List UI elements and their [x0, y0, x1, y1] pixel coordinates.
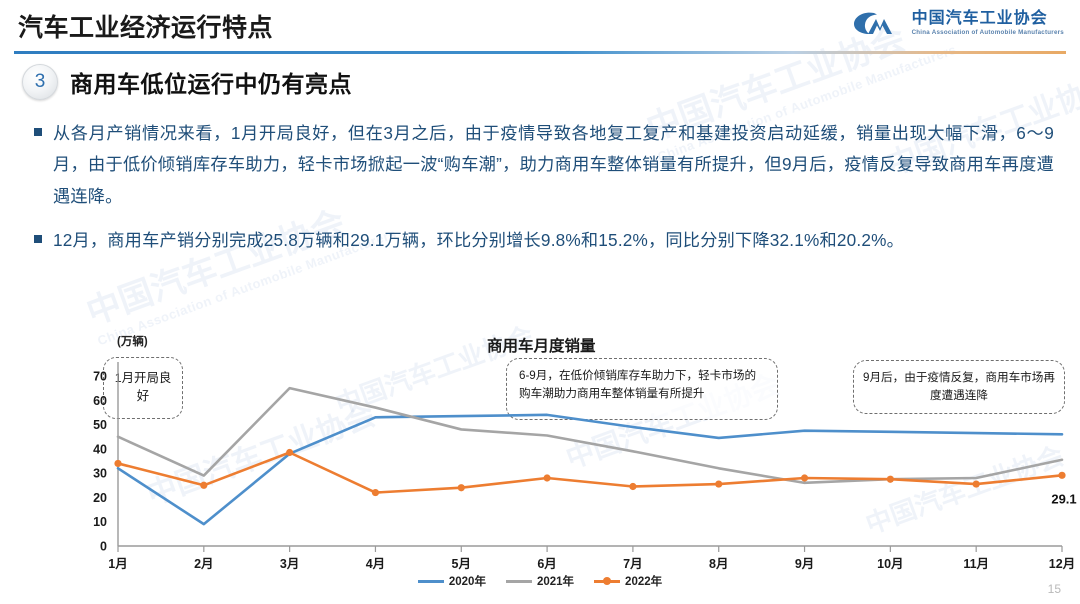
section-number-badge: 3: [22, 64, 58, 100]
slide-header: 汽车工业经济运行特点 中国汽车工业协会 China Association of…: [0, 0, 1080, 58]
brand-name-cn: 中国汽车工业协会: [912, 10, 1064, 28]
section-title: 商用车低位运行中仍有亮点: [70, 65, 352, 99]
bullet-text: 从各月产销情况来看，1月开局良好，但在3月之后，由于疫情导致各地复工复产和基建投…: [53, 118, 1054, 212]
legend-item-2021: 2021年: [506, 573, 574, 589]
bullet-list: 从各月产销情况来看，1月开局良好，但在3月之后，由于疫情导致各地复工复产和基建投…: [34, 118, 1054, 269]
legend-label-2020: 2020年: [449, 573, 486, 589]
page-number: 15: [1048, 582, 1061, 596]
legend-item-2020: 2020年: [418, 573, 486, 589]
svg-text:4月: 4月: [366, 557, 385, 571]
legend-label-2022: 2022年: [625, 573, 662, 589]
bullet-square-icon: [34, 235, 42, 243]
svg-text:7月: 7月: [623, 557, 642, 571]
slide-root: 中国汽车工业协会China Association of Automobile …: [0, 0, 1080, 604]
svg-text:9月: 9月: [795, 557, 814, 571]
svg-text:10月: 10月: [877, 557, 903, 571]
header-divider: [14, 51, 1066, 54]
svg-text:20: 20: [93, 491, 107, 505]
svg-text:2月: 2月: [194, 557, 213, 571]
page-title: 汽车工业经济运行特点: [18, 8, 273, 44]
svg-text:5月: 5月: [452, 557, 471, 571]
chart-legend: 2020年 2021年 2022年: [0, 573, 1080, 589]
brand-text: 中国汽车工业协会 China Association of Automobile…: [912, 10, 1064, 35]
legend-swatch-2022: [594, 576, 620, 587]
svg-text:60: 60: [93, 394, 107, 408]
legend-swatch-2020: [418, 576, 444, 587]
svg-text:6月: 6月: [537, 557, 556, 571]
svg-text:12月: 12月: [1049, 557, 1075, 571]
svg-text:3月: 3月: [280, 557, 299, 571]
list-item: 12月，商用车产销分别完成25.8万辆和29.1万辆，环比分别增长9.8%和15…: [34, 225, 1054, 256]
svg-text:30: 30: [93, 467, 107, 481]
svg-text:11月: 11月: [963, 557, 989, 571]
bullet-text: 12月，商用车产销分别完成25.8万辆和29.1万辆，环比分别增长9.8%和15…: [53, 225, 904, 256]
svg-text:29.1: 29.1: [1051, 491, 1076, 506]
legend-label-2021: 2021年: [537, 573, 574, 589]
line-chart-plot: 0102030405060701月2月3月4月5月6月7月8月9月10月11月1…: [0, 330, 1080, 604]
svg-text:10: 10: [93, 515, 107, 529]
chart-container: (万辆) 商用车月度销量 1月开局良好 6-9月，在低价倾销库存车助力下，轻卡市…: [0, 330, 1080, 604]
svg-text:1月: 1月: [108, 557, 127, 571]
caam-logo-icon: [851, 8, 903, 38]
section-heading: 3 商用车低位运行中仍有亮点: [22, 64, 352, 100]
svg-text:50: 50: [93, 418, 107, 432]
svg-text:0: 0: [100, 540, 107, 554]
bullet-square-icon: [34, 128, 42, 136]
svg-text:40: 40: [93, 442, 107, 456]
svg-text:70: 70: [93, 370, 107, 384]
brand-logo: 中国汽车工业协会 China Association of Automobile…: [851, 8, 1064, 38]
brand-name-en: China Association of Automobile Manufact…: [912, 29, 1064, 36]
svg-text:8月: 8月: [709, 557, 728, 571]
list-item: 从各月产销情况来看，1月开局良好，但在3月之后，由于疫情导致各地复工复产和基建投…: [34, 118, 1054, 212]
legend-item-2022: 2022年: [594, 573, 662, 589]
legend-swatch-2021: [506, 576, 532, 587]
